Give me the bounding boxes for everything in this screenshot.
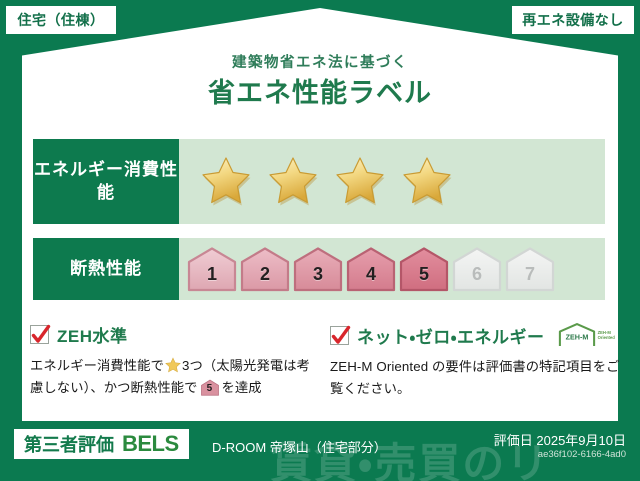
house-grade-badge: 4	[346, 246, 396, 292]
evaluation-date-label: 評価日	[494, 433, 533, 448]
insulation-performance-label: 断熱性能	[33, 238, 179, 300]
house-grade-badge: 5	[399, 246, 449, 292]
evaluation-date-value: 2025年9月10日	[536, 433, 626, 448]
zeh-m-logo: ZEH-M ZEH-M Oriented	[557, 322, 615, 348]
zeh-m-logo-subtext: ZEH-M Oriented	[598, 330, 615, 341]
house-grade-badge: 7	[505, 246, 555, 292]
label-footer: 第三者評価 BELS D-ROOM 帝塚山（住宅部分） 評価日 2025年9月1…	[0, 421, 640, 481]
zeh-standard-title: ZEH水準	[57, 322, 128, 347]
energy-performance-label: 住宅（住棟） 再エネ設備なし 建築物省エネ法に基づく 省エネ性能ラベル エネルギ…	[0, 0, 640, 481]
star-icon	[398, 154, 456, 210]
title-subtitle: 建築物省エネ法に基づく	[0, 55, 640, 72]
bels-certification-chip: 第三者評価 BELS	[14, 429, 189, 459]
zeh-standard-block: ZEH水準 エネルギー消費性能で 3つ（太陽光発電は考慮しない）、かつ断熱性能で…	[30, 322, 320, 398]
net-zero-energy-header: ネット・ゼロ・エネルギー ZEH-M ZEH-M Oriented	[330, 322, 620, 348]
zeh-desc-part3: を達成	[222, 380, 262, 395]
svg-text:ZEH-M: ZEH-M	[565, 333, 588, 341]
star-rating	[193, 154, 456, 210]
check-icon	[30, 323, 52, 347]
zeh-m-house-icon: ZEH-M	[557, 322, 597, 348]
check-icon	[330, 324, 352, 348]
evaluation-id: ae36f102-6166-4ad0	[538, 449, 626, 460]
energy-performance-row: エネルギー消費性能	[33, 139, 605, 224]
net-zero-energy-description: ZEH-M Oriented の要件は評価書の特記項目をご覧ください。	[330, 356, 620, 399]
house-grade-scale: 1234567	[187, 246, 555, 292]
house-grade-number: 7	[525, 264, 535, 292]
inline-house-badge: 5	[200, 379, 220, 396]
building-name: D-ROOM 帝塚山（住宅部分）	[212, 437, 387, 456]
label-title-block: 建築物省エネ法に基づく 省エネ性能ラベル	[0, 55, 640, 109]
house-grade-badge: 3	[293, 246, 343, 292]
net-zero-energy-block: ネット・ゼロ・エネルギー ZEH-M ZEH-M Oriented ZEH-M …	[330, 322, 620, 399]
zeh-checkbox	[30, 325, 49, 344]
zeh-m-sub-line2: Oriented	[598, 335, 615, 340]
house-grade-badge: 6	[452, 246, 502, 292]
insulation-performance-row: 断熱性能 1234567	[33, 238, 605, 300]
house-grade-number: 3	[313, 264, 323, 292]
third-party-evaluation-text: 第三者評価	[24, 431, 114, 457]
renewable-energy-tag: 再エネ設備なし	[512, 6, 634, 34]
house-grade-badge: 1	[187, 246, 237, 292]
net-zero-checkbox	[330, 326, 349, 345]
zeh-standard-header: ZEH水準	[30, 322, 320, 347]
house-grade-number: 1	[207, 264, 217, 292]
house-grade-number: 5	[419, 264, 429, 292]
house-grade-number: 2	[260, 264, 270, 292]
insulation-performance-value: 1234567	[179, 238, 605, 300]
energy-performance-value	[179, 139, 605, 224]
page-title: 省エネ性能ラベル	[0, 78, 640, 109]
house-grade-badge: 2	[240, 246, 290, 292]
zeh-m-sub-line1: ZEH-M	[598, 330, 611, 335]
house-grade-number: 6	[472, 264, 482, 292]
energy-performance-label: エネルギー消費性能	[33, 139, 179, 224]
star-icon	[197, 154, 255, 210]
star-icon	[264, 154, 322, 210]
star-icon	[331, 154, 389, 210]
bels-logo-text: BELS	[122, 431, 179, 457]
zeh-standard-description: エネルギー消費性能で 3つ（太陽光発電は考慮しない）、かつ断熱性能で 5 を達成	[30, 355, 320, 398]
building-type-tag: 住宅（住棟）	[6, 6, 116, 34]
net-zero-energy-title: ネット・ゼロ・エネルギー	[357, 323, 545, 348]
house-grade-number: 4	[366, 264, 376, 292]
inline-house-number: 5	[200, 381, 220, 397]
star-icon	[165, 357, 181, 373]
zeh-desc-part1: エネルギー消費性能で	[30, 358, 164, 373]
evaluation-date: 評価日 2025年9月10日	[494, 430, 626, 449]
